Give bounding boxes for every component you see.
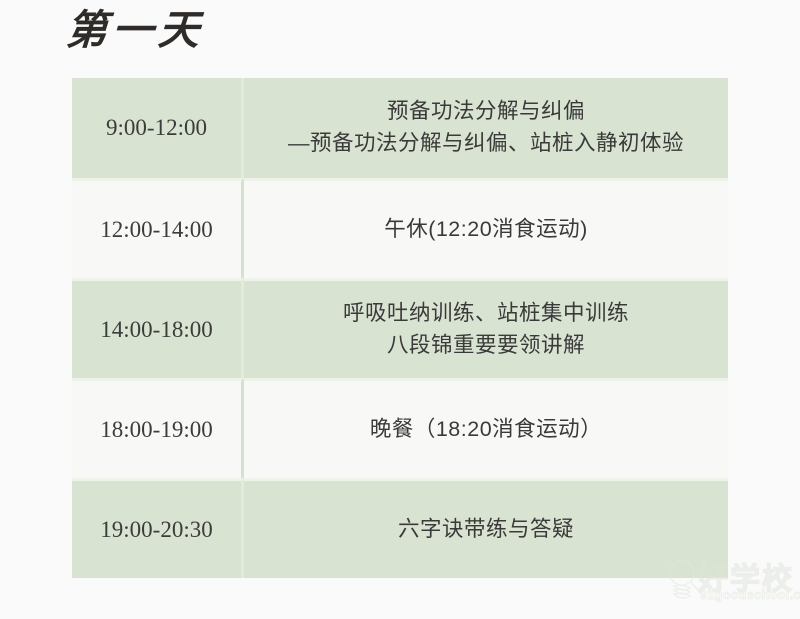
time-text: 9:00-12:00: [78, 115, 235, 141]
table-row: 9:00-12:00预备功法分解与纠偏—预备功法分解与纠偏、站桩入静初体验: [72, 78, 728, 178]
activity-text: 晚餐（18:20消食运动）: [250, 414, 722, 446]
time-cell: 9:00-12:00: [72, 78, 244, 178]
activity-cell: 午休(12:20消食运动): [244, 178, 728, 278]
activity-line: 呼吸吐纳训练、站桩集中训练: [250, 298, 722, 330]
time-cell: 14:00-18:00: [72, 278, 244, 378]
activity-line: 午休(12:20消食运动): [250, 214, 722, 246]
time-cell: 19:00-20:30: [72, 478, 244, 578]
activity-text: 预备功法分解与纠偏—预备功法分解与纠偏、站桩入静初体验: [250, 96, 722, 160]
time-cell: 18:00-19:00: [72, 378, 244, 478]
page-title: 第一天: [64, 2, 367, 60]
activity-line: 六字诀带练与答疑: [250, 514, 722, 546]
activity-cell: 晚餐（18:20消食运动）: [244, 378, 728, 478]
time-text: 12:00-14:00: [78, 217, 235, 243]
activity-text: 呼吸吐纳训练、站桩集中训练八段锦重要要领讲解: [250, 298, 722, 362]
time-text: 19:00-20:30: [78, 517, 235, 543]
table-row: 14:00-18:00呼吸吐纳训练、站桩集中训练八段锦重要要领讲解: [72, 278, 728, 378]
time-text: 14:00-18:00: [78, 317, 235, 343]
table-row: 18:00-19:00晚餐（18:20消食运动）: [72, 378, 728, 478]
activity-cell: 呼吸吐纳训练、站桩集中训练八段锦重要要领讲解: [244, 278, 728, 378]
activity-line: —预备功法分解与纠偏、站桩入静初体验: [250, 128, 722, 160]
time-text: 18:00-19:00: [78, 417, 235, 443]
activity-cell: 预备功法分解与纠偏—预备功法分解与纠偏、站桩入静初体验: [244, 78, 728, 178]
activity-line: 预备功法分解与纠偏: [250, 96, 722, 128]
schedule-table-body: 9:00-12:00预备功法分解与纠偏—预备功法分解与纠偏、站桩入静初体验12:…: [72, 78, 728, 578]
watermark-url: 91goodschool.com: [700, 588, 800, 602]
schedule-table: 9:00-12:00预备功法分解与纠偏—预备功法分解与纠偏、站桩入静初体验12:…: [72, 78, 728, 578]
activity-cell: 六字诀带练与答疑: [244, 478, 728, 578]
table-row: 19:00-20:30六字诀带练与答疑: [72, 478, 728, 578]
time-cell: 12:00-14:00: [72, 178, 244, 278]
activity-text: 六字诀带练与答疑: [250, 514, 722, 546]
table-row: 12:00-14:00午休(12:20消食运动): [72, 178, 728, 278]
activity-text: 午休(12:20消食运动): [250, 214, 722, 246]
activity-line: 八段锦重要要领讲解: [250, 330, 722, 362]
activity-line: 晚餐（18:20消食运动）: [250, 414, 722, 446]
schedule-page: 第一天 9:00-12:00预备功法分解与纠偏—预备功法分解与纠偏、站桩入静初体…: [0, 0, 800, 619]
